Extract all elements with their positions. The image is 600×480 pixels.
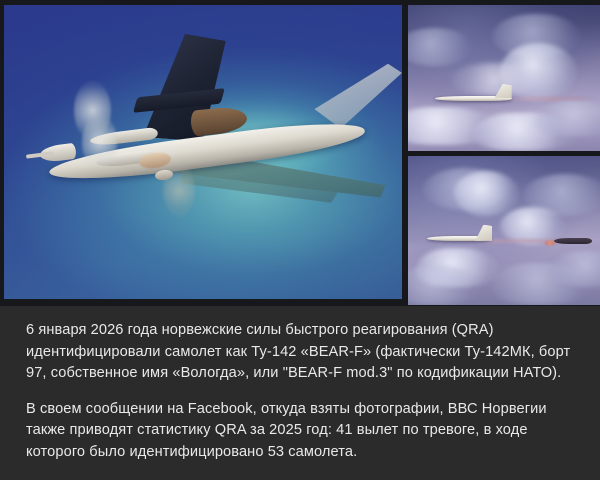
exhaust-trail [508,97,596,101]
bottom-right-photo-tu142-with-escort[interactable] [408,156,600,305]
main-photo-scene [4,5,402,299]
top-right-photo-tu142-over-clouds[interactable] [408,5,600,151]
caption-paragraph-2: В своем сообщении на Facebook, откуда вз… [26,399,578,464]
engine-afterburner-glow [544,241,556,245]
article-caption: 6 января 2026 года норвежские силы быстр… [0,306,600,480]
escort-fighter-silhouette [554,238,592,244]
cloud-deck [535,101,600,136]
photo-gallery [0,0,600,306]
aircraft-tail-silhouette [475,225,492,241]
main-photo-tu142-side-view[interactable] [4,5,402,299]
cloud-tower [454,171,519,216]
cloud-wisp [450,63,538,95]
cloud-puff [408,28,473,66]
propeller-disc-lower [82,114,118,170]
cloud-deck [550,251,600,287]
article-card: 6 января 2026 года норвежские силы быстр… [0,0,600,480]
caption-paragraph-1: 6 января 2026 года норвежские силы быстр… [26,320,578,385]
